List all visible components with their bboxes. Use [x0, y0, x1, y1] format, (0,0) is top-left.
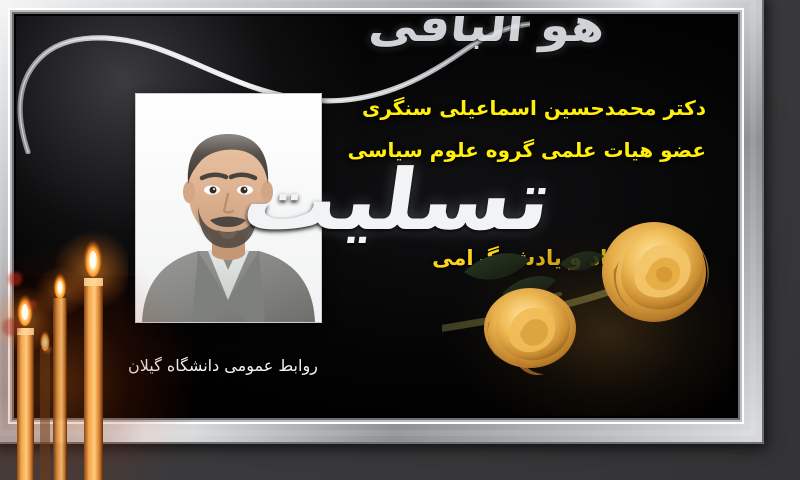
top-calligraphy: هو الباقی: [368, 16, 598, 74]
poster-stage: هو الباقی: [0, 0, 800, 480]
portrait-illustration: [136, 94, 321, 322]
roses-illustration: [442, 202, 736, 416]
deceased-position: عضو هیات علمی گروه علوم سیاسی: [348, 138, 706, 162]
poster-canvas: هو الباقی: [16, 16, 736, 416]
blessing-text: روحش شاد و یادش گرامی: [432, 246, 706, 270]
yellow-roses: [442, 202, 736, 416]
portrait-photo: [136, 94, 321, 322]
silver-picture-frame: هو الباقی: [0, 0, 762, 442]
top-calligraphy-text: هو الباقی: [366, 16, 608, 52]
organization-credit: روابط عمومی دانشگاه گیلان: [128, 356, 318, 375]
deceased-name: دکتر محمدحسین اسماعیلی سنگری: [362, 96, 706, 120]
